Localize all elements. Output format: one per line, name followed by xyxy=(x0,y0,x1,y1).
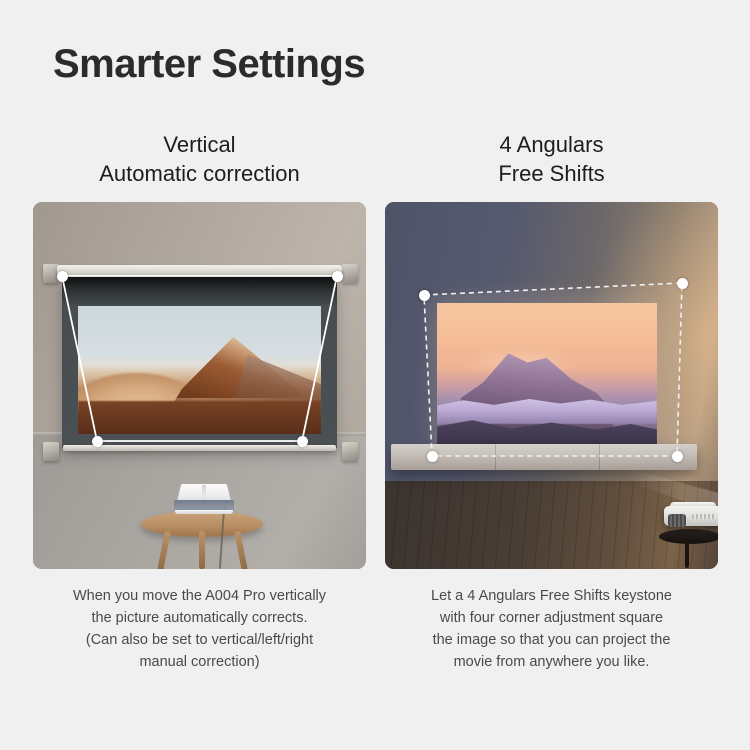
corner-handle-top-left[interactable] xyxy=(57,271,68,282)
corner-handle-bottom-right[interactable] xyxy=(297,436,308,447)
vertical-correction-photo xyxy=(33,202,366,569)
caption-vertical-correction: When you move the A004 Pro vertically th… xyxy=(33,585,366,673)
caption-line: movie from anywhere you like. xyxy=(385,651,718,673)
feature-column-vertical-correction: Vertical Automatic correction xyxy=(33,130,366,673)
caption-line: with four corner adjustment square xyxy=(385,607,718,629)
corner-handle-bottom-right[interactable] xyxy=(672,451,683,462)
keystone-guide-overlay xyxy=(385,202,718,569)
corner-handle-top-right[interactable] xyxy=(332,271,343,282)
corner-handle-top-right[interactable] xyxy=(677,278,688,289)
keystone-outline xyxy=(424,283,682,456)
four-corner-keystone-panel[interactable] xyxy=(385,202,718,569)
column-heading-angulars: 4 Angulars Free Shifts xyxy=(385,130,718,202)
page-title: Smarter Settings xyxy=(53,41,365,87)
vertical-correction-panel[interactable] xyxy=(33,202,366,569)
column-heading-line1: Vertical xyxy=(163,132,235,157)
corner-handle-bottom-left[interactable] xyxy=(92,436,103,447)
caption-four-corner-keystone: Let a 4 Angulars Free Shifts keystone wi… xyxy=(385,585,718,673)
four-corner-keystone-photo xyxy=(385,202,718,569)
column-heading-line2: Automatic correction xyxy=(33,159,366,188)
corner-handle-top-left[interactable] xyxy=(419,290,430,301)
caption-line: (Can also be set to vertical/left/right xyxy=(33,629,366,651)
column-heading-line2: Free Shifts xyxy=(385,159,718,188)
caption-line: the picture automatically corrects. xyxy=(33,607,366,629)
caption-line: manual correction) xyxy=(33,651,366,673)
caption-line: When you move the A004 Pro vertically xyxy=(33,585,366,607)
guide-line-left xyxy=(62,276,97,441)
column-heading-line1: 4 Angulars xyxy=(500,132,604,157)
feature-column-four-corner-keystone: 4 Angulars Free Shifts xyxy=(385,130,718,673)
vertical-correction-guide-overlay xyxy=(33,202,366,569)
column-heading-vertical: Vertical Automatic correction xyxy=(33,130,366,202)
guide-line-right xyxy=(302,276,337,441)
corner-handle-bottom-left[interactable] xyxy=(427,451,438,462)
caption-line: Let a 4 Angulars Free Shifts keystone xyxy=(385,585,718,607)
caption-line: the image so that you can project the xyxy=(385,629,718,651)
